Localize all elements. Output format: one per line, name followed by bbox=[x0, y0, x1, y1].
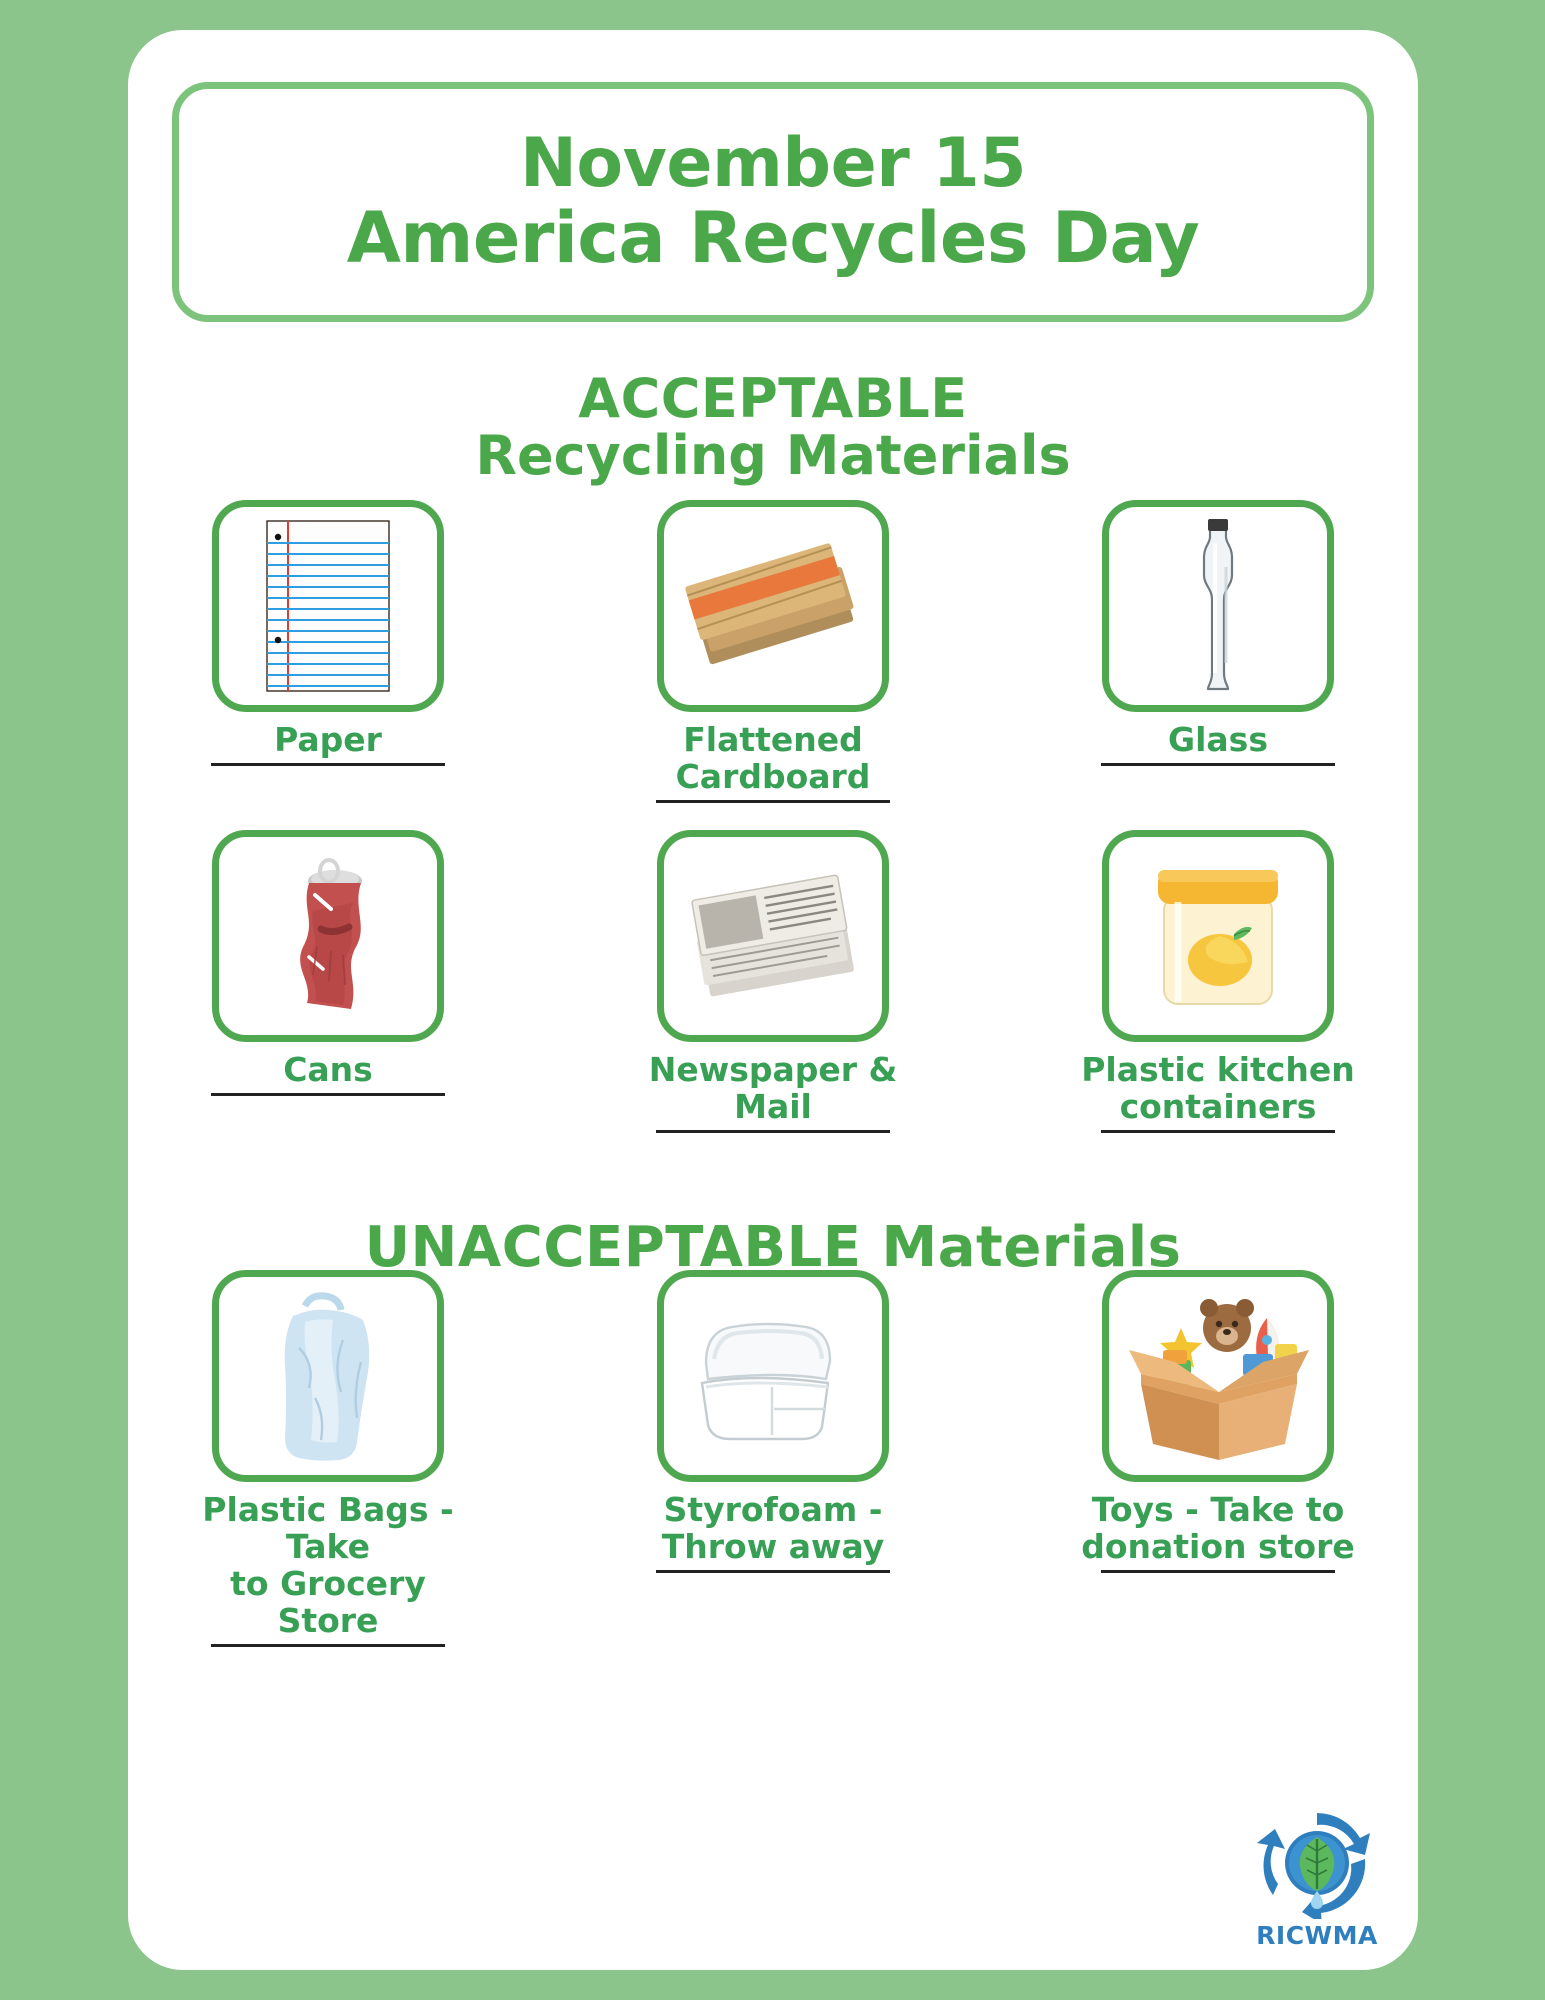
item-paper: Paper bbox=[178, 500, 478, 803]
lined-paper-icon bbox=[266, 520, 390, 692]
item-label-plastic-bags: Plastic Bags - Take to Grocery Store bbox=[185, 1492, 471, 1640]
item-plastic-containers: Plastic kitchen containers bbox=[1068, 830, 1368, 1133]
label-line-2: Throw away bbox=[662, 1527, 884, 1566]
item-card-plastic-bags bbox=[212, 1270, 444, 1482]
label-underline bbox=[1101, 1570, 1335, 1573]
item-card-paper bbox=[212, 500, 444, 712]
item-label-newspaper-mail: Newspaper & Mail bbox=[630, 1052, 916, 1126]
label-line-2: containers bbox=[1120, 1087, 1317, 1126]
item-card-styrofoam bbox=[657, 1270, 889, 1482]
label-line-2: to Grocery Store bbox=[230, 1564, 426, 1640]
flattened-cardboard-icon bbox=[678, 526, 868, 686]
newspaper-icon bbox=[683, 861, 863, 1011]
label-underline bbox=[1101, 1130, 1335, 1133]
item-label-toys: Toys - Take to donation store bbox=[1075, 1492, 1361, 1566]
title-box: November 15 America Recycles Day bbox=[172, 82, 1374, 322]
item-glass: Glass bbox=[1068, 500, 1368, 803]
label-line-1: Plastic Bags - Take bbox=[202, 1490, 453, 1566]
item-label-styrofoam: Styrofoam - Throw away bbox=[630, 1492, 916, 1566]
crushed-can-icon bbox=[273, 851, 383, 1021]
unacceptable-heading-text: UNACCEPTABLE Materials bbox=[128, 1218, 1418, 1277]
ricwma-logo-text: RICWMA bbox=[1242, 1921, 1392, 1950]
item-newspaper-mail: Newspaper & Mail bbox=[623, 830, 923, 1133]
plastic-bag-icon bbox=[253, 1288, 403, 1464]
label-underline bbox=[1101, 763, 1335, 766]
label-underline bbox=[211, 1093, 445, 1096]
item-card-glass bbox=[1102, 500, 1334, 712]
unacceptable-section-heading: UNACCEPTABLE Materials bbox=[128, 1218, 1418, 1277]
item-card-toys bbox=[1102, 1270, 1334, 1482]
label-line-1: Toys - Take to bbox=[1092, 1490, 1345, 1529]
item-card-newspaper-mail bbox=[657, 830, 889, 1042]
item-card-flattened-cardboard bbox=[657, 500, 889, 712]
label-underline bbox=[656, 800, 890, 803]
acceptable-section-heading: ACCEPTABLE Recycling Materials bbox=[128, 370, 1418, 484]
item-label-flattened-cardboard: Flattened Cardboard bbox=[630, 722, 916, 796]
poster-canvas: November 15 America Recycles Day ACCEPTA… bbox=[128, 30, 1418, 1970]
title-line-2: America Recycles Day bbox=[347, 201, 1200, 277]
ricwma-logo: RICWMA bbox=[1242, 1807, 1392, 1950]
toy-box-icon bbox=[1123, 1288, 1313, 1464]
label-underline bbox=[211, 1644, 445, 1647]
item-label-paper: Paper bbox=[185, 722, 471, 759]
item-cans: Cans bbox=[178, 830, 478, 1133]
label-line-1: Styrofoam - bbox=[664, 1490, 883, 1529]
item-card-plastic-containers bbox=[1102, 830, 1334, 1042]
item-toys: Toys - Take to donation store bbox=[1068, 1270, 1368, 1647]
acceptable-items-row-1: Paper Flattened Cardbo bbox=[178, 500, 1368, 803]
acceptable-items-row-2: Cans bbox=[178, 830, 1368, 1133]
recycling-leaf-logo-icon bbox=[1255, 1807, 1379, 1919]
label-line-2: Mail bbox=[734, 1087, 812, 1126]
label-underline bbox=[656, 1130, 890, 1133]
unacceptable-items-row: Plastic Bags - Take to Grocery Store bbox=[178, 1270, 1368, 1647]
item-styrofoam: Styrofoam - Throw away bbox=[623, 1270, 923, 1647]
item-flattened-cardboard: Flattened Cardboard bbox=[623, 500, 923, 803]
item-label-cans: Cans bbox=[185, 1052, 471, 1089]
label-line-1: Plastic kitchen bbox=[1081, 1050, 1355, 1089]
glass-bottle-icon bbox=[1178, 517, 1258, 695]
label-line-2: Cardboard bbox=[676, 757, 871, 796]
plastic-container-icon bbox=[1140, 856, 1296, 1016]
label-underline bbox=[211, 763, 445, 766]
acceptable-heading-line-1: ACCEPTABLE bbox=[128, 370, 1418, 427]
styrofoam-container-icon bbox=[678, 1301, 868, 1451]
label-line-2: donation store bbox=[1081, 1527, 1355, 1566]
item-label-glass: Glass bbox=[1075, 722, 1361, 759]
label-line-1: Flattened bbox=[683, 720, 863, 759]
item-card-cans bbox=[212, 830, 444, 1042]
label-line-1: Newspaper & bbox=[649, 1050, 898, 1089]
item-plastic-bags: Plastic Bags - Take to Grocery Store bbox=[178, 1270, 478, 1647]
title-line-1: November 15 bbox=[520, 127, 1026, 200]
item-label-plastic-containers: Plastic kitchen containers bbox=[1075, 1052, 1361, 1126]
label-underline bbox=[656, 1570, 890, 1573]
acceptable-heading-line-2: Recycling Materials bbox=[128, 427, 1418, 484]
